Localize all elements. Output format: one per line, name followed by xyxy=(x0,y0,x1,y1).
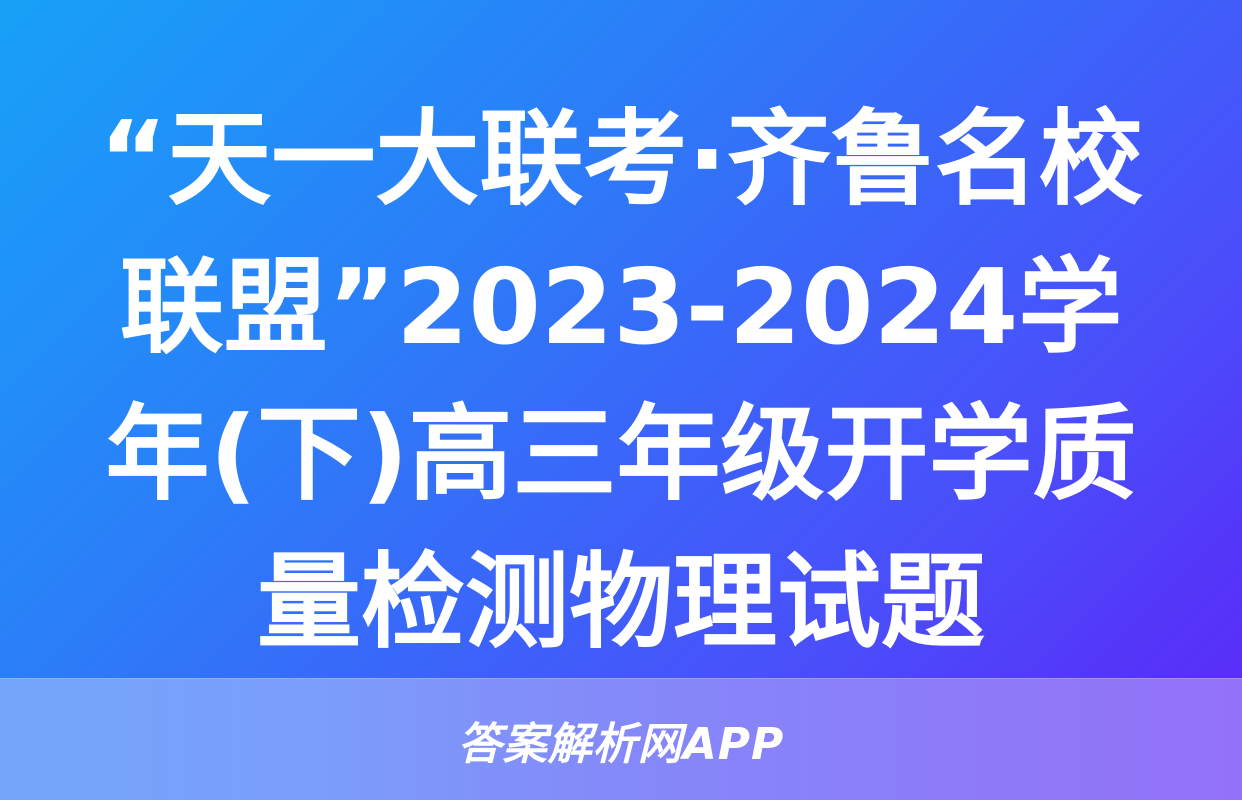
watermark-band: 答案解析网APP xyxy=(0,678,1242,800)
title-container: “天一大联考·齐鲁名校联盟”2023-2024学年(下)高三年级开学质量检测物理… xyxy=(90,86,1152,666)
page-title: “天一大联考·齐鲁名校联盟”2023-2024学年(下)高三年级开学质量检测物理… xyxy=(94,86,1149,677)
exam-title-card: “天一大联考·齐鲁名校联盟”2023-2024学年(下)高三年级开学质量检测物理… xyxy=(0,0,1242,800)
app-watermark-label: 答案解析网APP xyxy=(458,708,785,772)
